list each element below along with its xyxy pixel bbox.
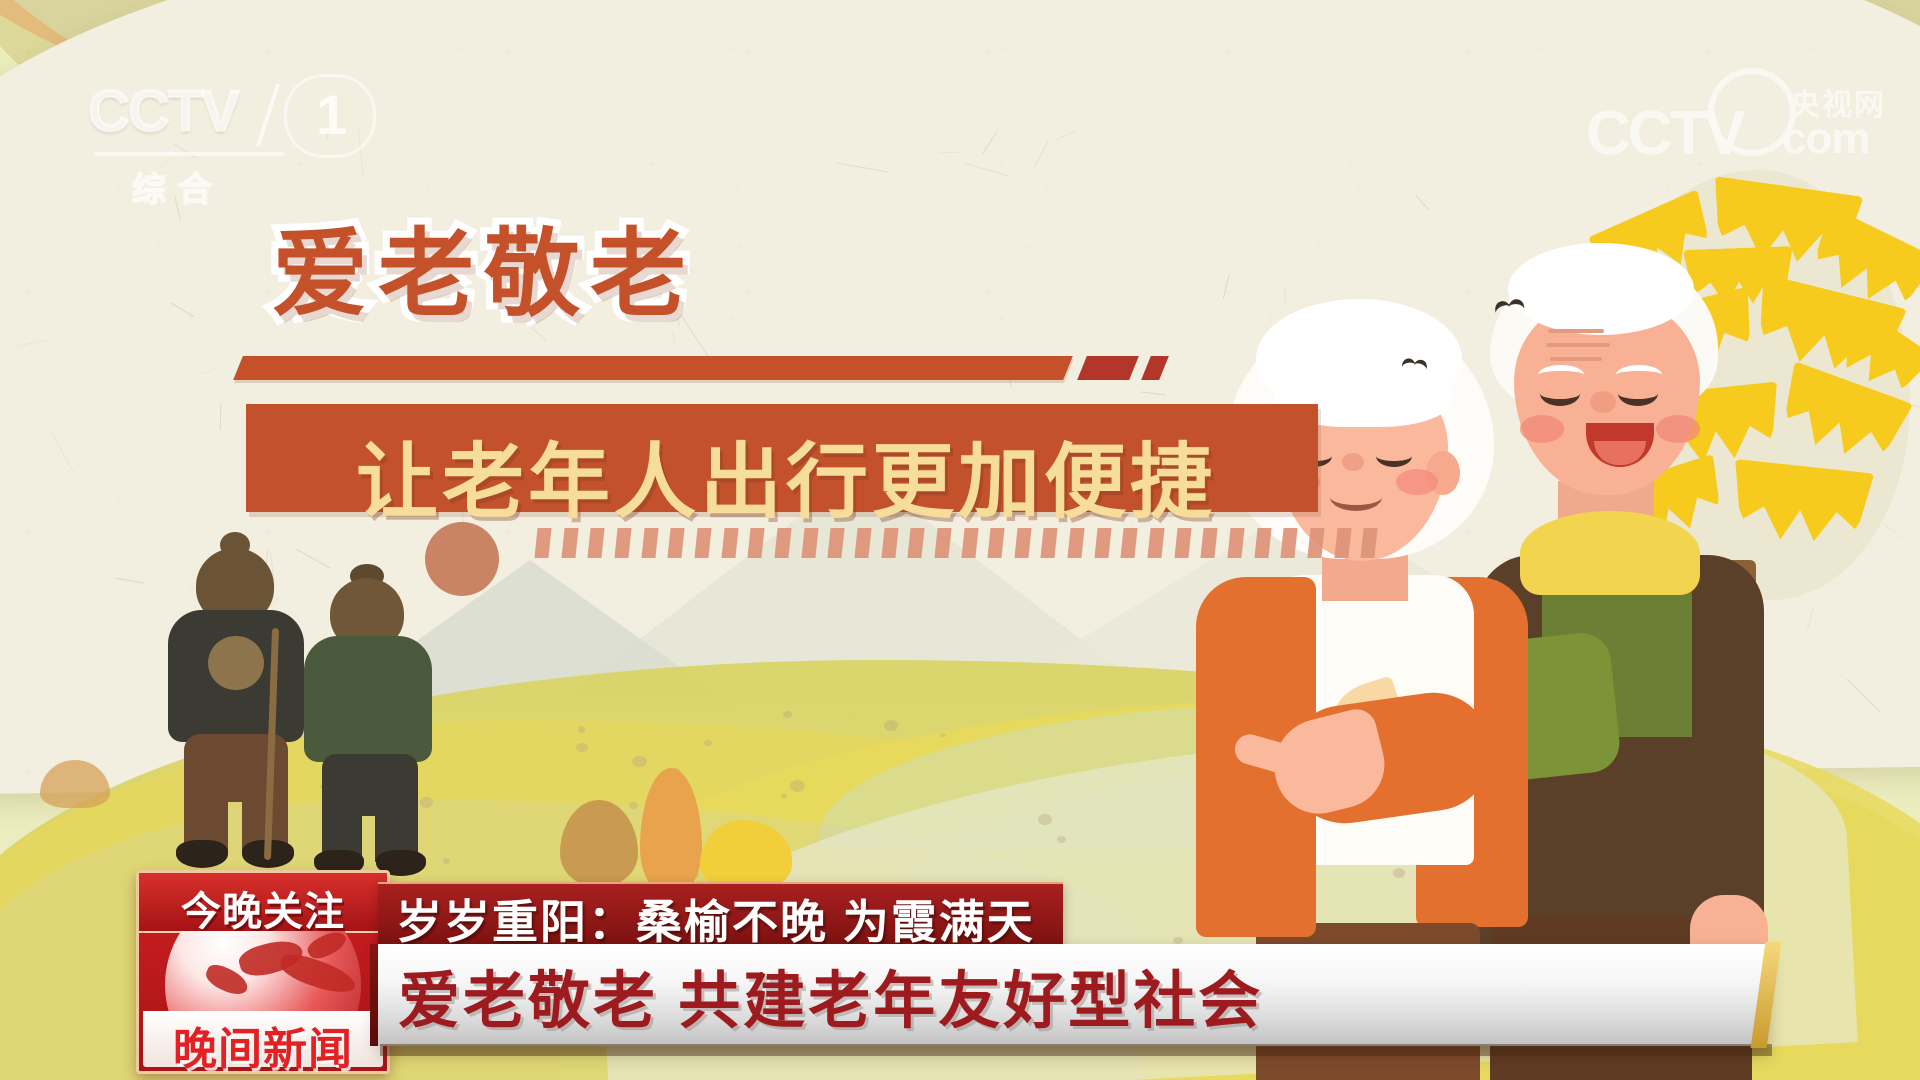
grandma-eye [1296, 445, 1332, 467]
program-segment-label: 今晚关注 [139, 879, 387, 937]
cctv-com-watermark: CCTV 央视网 com [1586, 62, 1886, 172]
channel-sub-label: 综合 [132, 162, 224, 211]
globe-icon [147, 931, 377, 1019]
forehead-wrinkle [1548, 329, 1604, 333]
leg-gap [362, 816, 375, 864]
paper-fiber [1141, 391, 1166, 395]
forehead-wrinkle [1546, 343, 1610, 347]
paper-fiber [926, 403, 934, 407]
paper-fiber [587, 267, 618, 275]
paper-fiber [448, 449, 460, 470]
paper-fiber [1034, 140, 1049, 166]
paper-fiber [200, 368, 218, 375]
grandpa-eye [1540, 381, 1580, 406]
watermark-domain: com [1782, 114, 1869, 164]
field-speck [940, 733, 945, 737]
torso [304, 636, 432, 762]
field-speck [1038, 814, 1051, 825]
broadcast-screen: CCTV 1 综合 CCTV 央视网 com 爱老敬老 让老年人出行更加便捷 今… [0, 0, 1920, 1080]
grandma-nose [1342, 453, 1364, 471]
paper-fiber [1008, 375, 1013, 388]
headline-bar-shadow [380, 1044, 1772, 1056]
paper-fiber [52, 433, 75, 474]
field-speck [884, 720, 898, 731]
grandma-eye [1376, 445, 1412, 467]
cctv-wordmark: CCTV [88, 78, 238, 145]
lower-third: 今晚关注 晚间新闻 岁岁重阳：桑榆不晚 为霞满天 爱老敬老 共建老年友好型社会 [0, 858, 1920, 1080]
paper-fiber [680, 254, 694, 272]
field-speck [632, 756, 647, 768]
paper-fiber [680, 313, 710, 358]
grandma-cheek-blush [1396, 469, 1438, 495]
field-speck [578, 726, 586, 732]
paper-fiber [1846, 678, 1881, 712]
paper-fiber [672, 332, 676, 344]
grandpa-eye [1618, 381, 1658, 406]
paper-fiber [390, 436, 393, 459]
channel-number: 1 [316, 82, 347, 147]
logo-slash [256, 84, 280, 146]
cctv-channel-logo: CCTV 1 综合 [88, 78, 358, 188]
paper-fiber [532, 328, 547, 341]
field-speck [704, 740, 712, 746]
bird-icon [1494, 298, 1526, 316]
paper-fiber [478, 361, 506, 378]
forehead-wrinkle [1550, 357, 1602, 361]
paper-fiber [115, 577, 144, 583]
paper-fiber [1055, 130, 1076, 141]
paper-fiber [14, 340, 49, 347]
grandpa-cheek-blush [1656, 415, 1700, 443]
paper-fiber [169, 302, 193, 317]
elder-silhouette-right [290, 578, 490, 878]
paper-fiber [837, 162, 889, 172]
paper-fiber [1415, 194, 1429, 210]
field-speck [629, 802, 637, 809]
grandpa-collar [1520, 511, 1700, 595]
grandpa-cheek-blush [1520, 415, 1564, 443]
bird-icon [1402, 358, 1429, 373]
grandma-hair-top [1256, 299, 1462, 419]
paper-fiber [220, 403, 222, 430]
program-name-label: 晚间新闻 [139, 1013, 387, 1077]
grandma-cheek-blush [1278, 469, 1320, 495]
field-speck [790, 780, 805, 792]
paper-fiber [963, 162, 1010, 176]
grandpa-hair-top [1508, 243, 1694, 335]
paper-fiber [939, 152, 960, 154]
program-badge: 今晚关注 晚间新闻 [136, 870, 390, 1074]
grandpa-nose [1590, 391, 1616, 413]
logo-underline [94, 152, 284, 156]
grandma-smile [1330, 483, 1382, 511]
kicker-text: 岁岁重阳：桑榆不晚 为霞满天 [396, 886, 1035, 952]
back-patch [208, 636, 264, 690]
leg-gap [228, 802, 242, 856]
paper-fiber [983, 131, 998, 153]
headline-text: 爱老敬老 共建老年友好型社会 [398, 950, 1263, 1040]
